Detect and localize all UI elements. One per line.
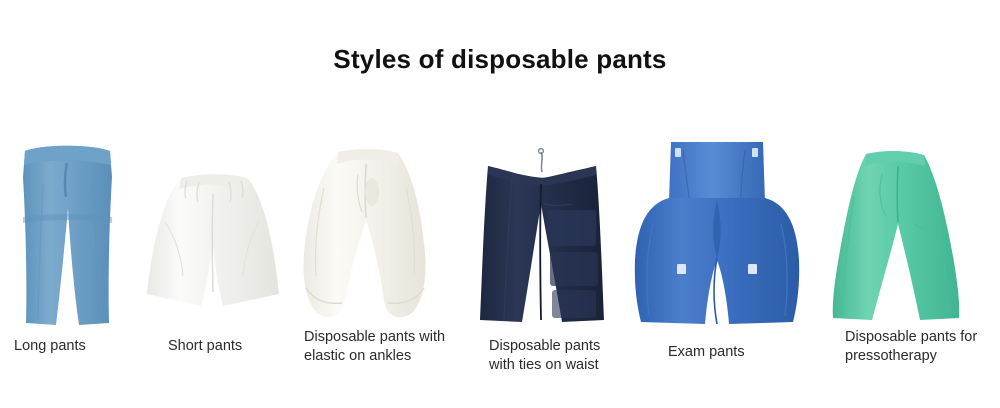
pressotherapy-pants-image <box>828 150 960 322</box>
elastic-ankle-pants-image <box>298 148 433 323</box>
label-tab <box>748 264 757 274</box>
short-pants-image <box>143 172 283 312</box>
label-tab <box>675 148 681 157</box>
product-caption: Exam pants <box>668 343 818 362</box>
product-caption: Disposable pants with ties on waist <box>489 337 649 375</box>
exam-pants-image <box>633 140 801 326</box>
product-caption: Short pants <box>168 337 298 356</box>
product-caption: Disposable pants for pressotherapy <box>845 328 1000 366</box>
label-tab <box>677 264 686 274</box>
product-caption: Disposable pants with elastic on ankles <box>304 328 474 366</box>
tie-waist-pants-image <box>478 148 613 323</box>
label-tab <box>752 148 758 157</box>
long-pants-image <box>13 143 123 328</box>
product-caption: Long pants <box>14 337 144 356</box>
page-title: Styles of disposable pants <box>0 44 1000 75</box>
